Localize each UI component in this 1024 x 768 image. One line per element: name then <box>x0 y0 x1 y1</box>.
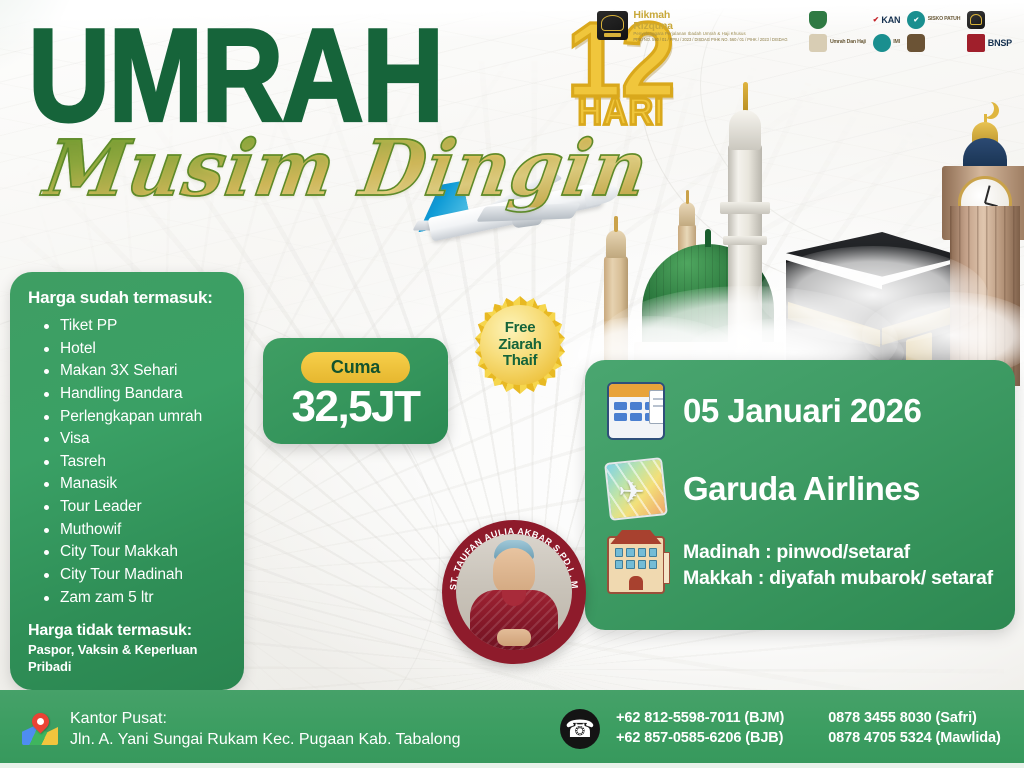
plane-glyph-icon: ✈ <box>618 475 645 507</box>
office-text: Kantor Pusat: Jln. A. Yani Sungai Rukam … <box>70 708 461 750</box>
hotel-madinah: Madinah : pinwod/setaraf <box>683 539 993 565</box>
list-item: Zam zam 5 ltr <box>44 587 230 610</box>
excludes-heading: Harga tidak termasuk: <box>28 622 230 640</box>
promo-line-3: Thaif <box>503 353 537 370</box>
cert-kemenag <box>809 10 865 29</box>
company-logo-text: Hikmah Rizquna Penyelenggara Perjalanan … <box>633 10 787 42</box>
cert-bnsp: BNSP <box>967 33 1012 52</box>
cert-crest <box>907 33 960 52</box>
list-item: Tour Leader <box>44 496 230 519</box>
company-name-line2: Rizquna <box>633 21 787 32</box>
list-item: Tiket PP <box>44 315 230 338</box>
director-portrait <box>456 534 572 650</box>
cert-imi: IMI <box>873 33 901 52</box>
phone-column-left: +62 812-5598-7011 (BJM) +62 857-0585-620… <box>616 709 784 748</box>
director-head <box>493 548 535 596</box>
bnsp-mark-icon <box>967 34 985 52</box>
list-item: Visa <box>44 428 230 451</box>
promo-line-2: Ziarah <box>498 337 541 354</box>
trip-details-panel: 05 Januari 2026 ✈ Garuda Airlines Madina… <box>585 360 1015 630</box>
departure-date: 05 Januari 2026 <box>683 392 921 430</box>
director-hands <box>497 629 531 646</box>
building-icon <box>809 34 827 52</box>
price-amount: 32,5JT <box>292 385 420 430</box>
airline-row: ✈ Garuda Airlines <box>607 460 995 518</box>
office-address: Jln. A. Yani Sungai Rukam Kec. Pugaan Ka… <box>70 729 461 750</box>
phone-columns: +62 812-5598-7011 (BJM) +62 857-0585-620… <box>616 709 1001 748</box>
phone-icon <box>560 709 600 749</box>
hotel-roof <box>604 530 668 544</box>
list-item: City Tour Madinah <box>44 564 230 587</box>
starburst-content: Free Ziarah Thaif <box>480 305 560 385</box>
company-logo: Hikmah Rizquna Penyelenggara Perjalanan … <box>597 10 787 42</box>
airline-name: Garuda Airlines <box>683 470 920 508</box>
phone-number[interactable]: +62 812-5598-7011 (BJM) <box>616 709 784 729</box>
hotel-makkah: Makkah : diyafah mubarok/ setaraf <box>683 565 993 591</box>
cert-umrah-haji: Umrah Dan Haji <box>809 33 865 52</box>
calendar-ring <box>651 382 655 390</box>
kaaba-icon <box>786 232 964 380</box>
hotel-list: Madinah : pinwod/setaraf Makkah : diyafa… <box>683 539 993 591</box>
list-item: Perlengkapan umrah <box>44 406 230 429</box>
office-label: Kantor Pusat: <box>70 708 461 729</box>
minaret-balcony <box>720 202 770 214</box>
certification-logos: ✔ KAN ✔ SISKO PATUH Umrah Dan Haji IMI <box>809 10 1012 52</box>
tower-shaft-texture <box>950 206 1020 386</box>
minaret-tall-icon <box>728 144 762 380</box>
phone-number[interactable]: 0878 3455 8030 (Safri) <box>828 709 1001 729</box>
list-item: Tasreh <box>44 451 230 474</box>
umrah-promo-poster: UMRAH 12 HARI Musim Dingin Hikmah Rizqun… <box>0 0 1024 768</box>
price-includes-panel: Harga sudah termasuk: Tiket PP Hotel Mak… <box>10 272 244 690</box>
list-item: Muthowif <box>44 519 230 542</box>
cert-bnsp-label: BNSP <box>988 38 1012 48</box>
map-plane-icon: ✈ <box>604 457 668 521</box>
kaaba-emblem-icon <box>967 11 985 29</box>
calendar-ring <box>619 382 623 390</box>
cert-kemenag-gold <box>967 10 1012 29</box>
list-item: Handling Bandara <box>44 383 230 406</box>
list-item: Manasik <box>44 473 230 496</box>
list-item: Makan 3X Sehari <box>44 360 230 383</box>
hotels-row: Madinah : pinwod/setaraf Makkah : diyafa… <box>607 536 995 594</box>
check-circle-icon: ✔ <box>907 11 925 29</box>
subtitle-script: Musim Dingin <box>40 131 653 208</box>
calendar-icon <box>607 382 665 440</box>
holy-landmarks-illustration <box>596 96 1024 386</box>
seal-icon <box>873 34 891 52</box>
shield-icon <box>809 11 827 29</box>
contact-footer: Kantor Pusat: Jln. A. Yani Sungai Rukam … <box>0 690 1024 768</box>
promo-line-1: Free <box>505 320 536 337</box>
minaret-balcony <box>723 236 767 245</box>
excludes-text: Paspor, Vaksin & Keperluan Pribadi <box>28 642 230 676</box>
makkah-clock-tower-icon <box>942 110 1024 382</box>
promo-starburst-badge: Free Ziarah Thaif <box>471 296 569 394</box>
includes-list: Tiket PP Hotel Makan 3X Sehari Handling … <box>44 315 230 609</box>
cert-sisko-patuh: ✔ SISKO PATUH <box>907 10 960 29</box>
phone-number[interactable]: 0878 4705 5324 (Mawlida) <box>828 729 1001 749</box>
price-card: Cuma 32,5JT <box>263 338 448 444</box>
hotel-icon <box>607 536 665 594</box>
phone-column-right: 0878 3455 8030 (Safri) 0878 4705 5324 (M… <box>828 709 1001 748</box>
cert-imi-label: IMI <box>893 40 900 46</box>
phone-number[interactable]: +62 857-0585-6206 (BJB) <box>616 729 784 749</box>
crest-icon <box>907 34 925 52</box>
hotel-door <box>629 576 643 590</box>
tower-shaft <box>950 206 1020 386</box>
cert-kan-label: KAN <box>881 15 900 25</box>
departure-date-row: 05 Januari 2026 <box>607 382 995 440</box>
office-block: Kantor Pusat: Jln. A. Yani Sungai Rukam … <box>0 708 560 750</box>
minaret-spire <box>743 82 748 112</box>
map-pin-icon <box>22 713 58 745</box>
hotel-sign <box>663 552 670 584</box>
list-item: Hotel <box>44 338 230 361</box>
price-chip-label: Cuma <box>301 352 410 383</box>
kaaba-emblem-icon <box>597 11 628 40</box>
check-icon: ✔ <box>873 15 879 24</box>
includes-heading: Harga sudah termasuk: <box>28 288 230 308</box>
list-item: City Tour Makkah <box>44 541 230 564</box>
cert-kan: ✔ KAN <box>873 10 901 29</box>
cert-sisko-label: SISKO PATUH <box>928 17 960 23</box>
company-registration: PPIU NO. 560 / 01 / PPIU / 2023 / DISDAG… <box>633 37 787 42</box>
contact-block: +62 812-5598-7011 (BJM) +62 857-0585-620… <box>560 709 1001 749</box>
calendar-ring <box>635 382 639 390</box>
calendar-page <box>649 390 665 424</box>
minaret-cap <box>729 110 761 150</box>
cert-umrah-haji-label: Umrah Dan Haji <box>830 40 866 46</box>
director-photo-badge: UST. TAUFAN AULIA AKBAR S.PD.I , MM DIRE… <box>442 520 586 664</box>
logo-strip: Hikmah Rizquna Penyelenggara Perjalanan … <box>597 10 1012 52</box>
